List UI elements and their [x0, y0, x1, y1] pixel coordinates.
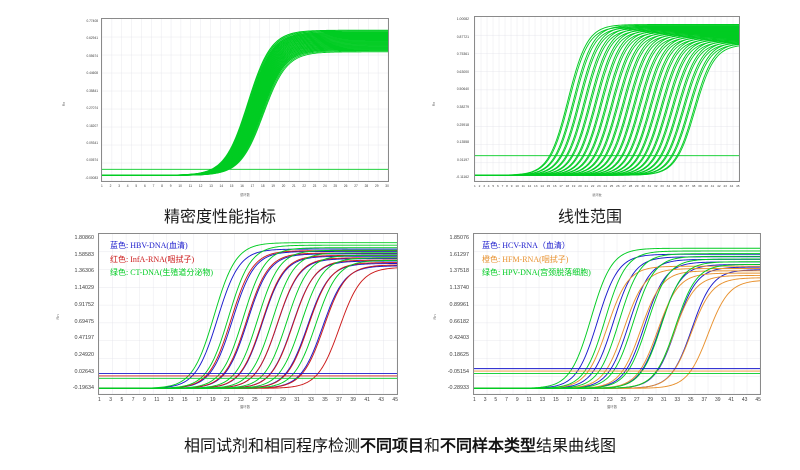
x-axis-tick-label: 40: [704, 185, 707, 188]
y-axis-tick-label: 0.75361: [457, 53, 469, 56]
figure-main-caption: 相同试剂和相同程序检测不同项目和不同样本类型结果曲线图: [0, 432, 800, 456]
caption-segment: 不同样本类型: [440, 438, 536, 455]
curve-green: [102, 45, 388, 176]
x-axis-tick-label: 35: [322, 398, 328, 403]
x-axis-tick-label: 3: [484, 398, 487, 403]
y-axis-tick-label: 0.89961: [450, 303, 470, 308]
x-axis-tick-label: 3: [483, 185, 485, 188]
x-axis-tick-label: 34: [667, 185, 670, 188]
caption-segment: 相同试剂和相同程序检测: [184, 438, 360, 455]
x-axis-tick-label: 41: [711, 185, 714, 188]
x-axis-tick-label: 13: [168, 398, 174, 403]
x-axis-tick-label: 14: [540, 185, 543, 188]
x-axis-tick-label: 10: [515, 185, 518, 188]
y-axis-tick-label: 0.25918: [457, 124, 469, 127]
y-axis-tick-label: -0.28933: [448, 386, 469, 391]
y-axis-tick-label: 1.37518: [450, 269, 470, 274]
y-axis-tick-label: 0.09341: [86, 142, 98, 145]
y-axis-tick-label: 0.87721: [457, 36, 469, 39]
x-axis-tick-label: 21: [292, 185, 296, 188]
chart-panel-multi-target-2: Rn 1.850761.612971.375181.137400.899610.…: [432, 228, 762, 406]
x-axis-tick-label: 17: [196, 398, 202, 403]
caption-segment: 结果曲线图: [536, 438, 616, 455]
x-axis-tick-label: 13: [209, 185, 213, 188]
plot-area-precision: [101, 18, 389, 182]
caption-segment: 和: [424, 438, 440, 455]
x-axis-tick-label: 21: [224, 398, 230, 403]
x-axis-tick-label: 7: [153, 185, 155, 188]
y-axis-tick-label: 1.36306: [75, 269, 95, 274]
y-axis-tick-label: 1.14029: [75, 286, 95, 291]
y-axis-tick-label: 0.91752: [75, 303, 95, 308]
x-axis-tick-label: 27: [622, 185, 625, 188]
x-axis-tick-label: 5: [492, 185, 494, 188]
plot-svg: [102, 19, 388, 181]
legend-item: 蓝色: HCV-RNA（血清）: [482, 240, 591, 252]
y-axis-tick-label: 0.55674: [86, 55, 98, 58]
x-axis-tick-label: 7: [132, 398, 135, 403]
x-axis-tick-label: 5: [121, 398, 124, 403]
x-axis-tick-label: 25: [621, 398, 627, 403]
x-axis-tick-label: 15: [230, 185, 234, 188]
x-axis-tick-label: 27: [634, 398, 640, 403]
x-axis-tick-label: 31: [648, 185, 651, 188]
x-axis-tick-label: 6: [497, 185, 499, 188]
x-axis-tick-label: 18: [261, 185, 265, 188]
x-axis-tick-label: 41: [728, 398, 734, 403]
x-axis-tick-label: 9: [511, 185, 513, 188]
x-axis-tick-label: 29: [648, 398, 654, 403]
plot-svg: [475, 17, 739, 181]
x-axis-tick-label: 18: [566, 185, 569, 188]
x-axis-tick-label: 31: [661, 398, 667, 403]
x-axis-tick-label: 8: [506, 185, 508, 188]
x-axis-tick-label: 15: [553, 398, 559, 403]
x-axis-ticks-mt2: 1357911131517192123252729313335373941434…: [473, 398, 761, 403]
y-axis-title-precision: Rn: [62, 101, 66, 105]
x-axis-tick-label: 28: [365, 185, 369, 188]
y-axis-tick-label: 0.44608: [86, 72, 98, 75]
caption-segment: 不同项目: [360, 438, 424, 455]
y-axis-ticks-mt2: 1.850761.612971.375181.137400.899610.661…: [435, 236, 469, 392]
x-axis-tick-label: 11: [522, 185, 525, 188]
y-axis-tick-label: -0.19634: [73, 386, 94, 391]
legend-item: 蓝色: HBV-DNA(血清): [110, 240, 213, 252]
x-axis-tick-label: 21: [594, 398, 600, 403]
amplification-curves: [102, 30, 388, 175]
x-axis-tick-label: 24: [323, 185, 327, 188]
x-axis-ticks-mt1: 1357911131517192123252729313335373941434…: [98, 398, 398, 403]
y-axis-tick-label: 1.00082: [457, 18, 469, 21]
x-axis-tick-label: 19: [580, 398, 586, 403]
x-axis-tick-label: 1: [101, 185, 103, 188]
x-axis-tick-label: 10: [178, 185, 182, 188]
y-axis-tick-label: 0.47197: [75, 336, 95, 341]
x-axis-tick-label: 5: [494, 398, 497, 403]
x-axis-tick-label: 17: [567, 398, 573, 403]
x-axis-tick-label: 2: [479, 185, 481, 188]
x-axis-tick-label: 38: [692, 185, 695, 188]
x-axis-tick-label: 27: [354, 185, 358, 188]
x-axis-title-mt2: 循环数: [607, 404, 617, 409]
x-axis-tick-label: 43: [723, 185, 726, 188]
plot-area-linear: [474, 16, 740, 182]
x-axis-tick-label: 13: [534, 185, 537, 188]
x-axis-title-precision: 循环数: [240, 192, 250, 197]
x-axis-tick-label: 45: [736, 185, 739, 188]
y-axis-tick-label: 0.63000: [457, 71, 469, 74]
x-axis-tick-label: 19: [271, 185, 275, 188]
chart-panel-multi-target-1: Rn 1.808601.585831.363061.140290.917520.…: [55, 228, 410, 406]
y-axis-tick-label: 1.80860: [75, 236, 95, 241]
x-axis-ticks-precision: 1234567891011121314151617181920212223242…: [101, 185, 389, 188]
y-axis-title-linear: Rn: [432, 101, 436, 105]
x-axis-tick-label: 26: [616, 185, 619, 188]
x-axis-tick-label: 39: [698, 185, 701, 188]
y-axis-ticks-linear: 1.000820.877210.753610.630000.506400.382…: [437, 18, 469, 180]
x-axis-tick-label: 11: [154, 398, 159, 403]
x-axis-tick-label: 45: [392, 398, 398, 403]
x-axis-tick-label: 9: [516, 398, 519, 403]
y-axis-tick-label: 0.02643: [75, 370, 95, 375]
y-axis-tick-label: 1.13740: [450, 286, 470, 291]
legend-item: 红色: InfA-RNA(咽拭子): [110, 254, 213, 266]
x-axis-tick-label: 4: [127, 185, 129, 188]
x-axis-tick-label: 41: [364, 398, 370, 403]
y-axis-tick-label: 0.66182: [450, 320, 470, 325]
x-axis-tick-label: 44: [730, 185, 733, 188]
x-axis-tick-label: 17: [251, 185, 255, 188]
x-axis-tick-label: 37: [336, 398, 342, 403]
legend-item: 绿色: CT-DNA(生殖道分泌物): [110, 267, 213, 279]
x-axis-tick-label: 23: [597, 185, 600, 188]
x-axis-tick-label: 33: [660, 185, 663, 188]
x-axis-tick-label: 23: [238, 398, 244, 403]
x-axis-tick-label: 25: [610, 185, 613, 188]
x-axis-tick-label: 12: [199, 185, 203, 188]
x-axis-tick-label: 12: [528, 185, 531, 188]
caption-top-left: 精密度性能指标: [130, 203, 310, 227]
x-axis-tick-label: 5: [135, 185, 137, 188]
x-axis-tick-label: 1: [98, 398, 101, 403]
x-axis-tick-label: 11: [189, 185, 192, 188]
x-axis-tick-label: 42: [717, 185, 720, 188]
y-axis-tick-label: 0.13558: [457, 141, 469, 144]
x-axis-tick-label: 20: [282, 185, 286, 188]
curve-green: [102, 44, 388, 176]
legend-mt2: 蓝色: HCV-RNA（血清）橙色: HFM-RNA(咽拭子)绿色: HPV-D…: [482, 240, 591, 281]
x-axis-tick-label: 15: [182, 398, 188, 403]
legend-item: 橙色: HFM-RNA(咽拭子): [482, 254, 591, 266]
x-axis-tick-label: 35: [688, 398, 694, 403]
y-axis-tick-label: -0.11162: [456, 176, 469, 179]
x-axis-tick-label: 23: [607, 398, 613, 403]
y-axis-tick-label: 0.35841: [86, 90, 98, 93]
x-axis-tick-label: 8: [161, 185, 163, 188]
x-axis-tick-label: 7: [502, 185, 504, 188]
x-axis-tick-label: 43: [742, 398, 748, 403]
x-axis-tick-label: 19: [572, 185, 575, 188]
y-axis-ticks-mt1: 1.808601.585831.363061.140290.917520.694…: [60, 236, 94, 392]
x-axis-tick-label: 21: [585, 185, 588, 188]
y-axis-tick-label: 0.27074: [86, 107, 98, 110]
x-axis-tick-label: 28: [629, 185, 632, 188]
y-axis-tick-label: 0.42403: [450, 336, 470, 341]
x-axis-tick-label: 2: [110, 185, 112, 188]
y-axis-tick-label: 1.61297: [450, 253, 470, 258]
x-axis-tick-label: 15: [547, 185, 550, 188]
curve-green: [102, 45, 388, 176]
x-axis-tick-label: 19: [210, 398, 216, 403]
y-axis-tick-label: -0.05154: [448, 370, 469, 375]
x-axis-tick-label: 33: [674, 398, 680, 403]
x-axis-tick-label: 35: [673, 185, 676, 188]
y-axis-tick-label: 1.85076: [450, 236, 470, 241]
x-axis-tick-label: 23: [313, 185, 317, 188]
x-axis-tick-label: 25: [334, 185, 338, 188]
x-axis-tick-label: 6: [144, 185, 146, 188]
x-axis-tick-label: 45: [755, 398, 761, 403]
x-axis-title-linear: 循环数: [592, 192, 601, 197]
x-axis-tick-label: 14: [220, 185, 224, 188]
x-axis-tick-label: 25: [252, 398, 258, 403]
x-axis-tick-label: 26: [344, 185, 348, 188]
x-axis-tick-label: 32: [654, 185, 657, 188]
y-axis-tick-label: 0.00574: [86, 159, 98, 162]
x-axis-tick-label: 20: [578, 185, 581, 188]
y-axis-tick-label: -0.00083: [85, 177, 98, 180]
x-axis-tick-label: 13: [540, 398, 546, 403]
chart-panel-precision: Rn 0.774080.629410.556740.446080.358410.…: [60, 6, 400, 201]
x-axis-tick-label: 3: [118, 185, 120, 188]
figure-root: Rn 0.774080.629410.556740.446080.358410.…: [0, 0, 800, 470]
y-axis-tick-label: 0.77408: [86, 20, 98, 23]
x-axis-tick-label: 16: [553, 185, 556, 188]
x-axis-tick-label: 11: [527, 398, 532, 403]
x-axis-tick-label: 3: [109, 398, 112, 403]
y-axis-tick-label: 0.18625: [450, 353, 470, 358]
x-axis-tick-label: 29: [635, 185, 638, 188]
y-axis-tick-label: 0.01197: [457, 159, 469, 162]
x-axis-tick-label: 39: [715, 398, 721, 403]
y-axis-tick-label: 0.24920: [75, 353, 95, 358]
x-axis-tick-label: 4: [488, 185, 490, 188]
x-axis-tick-label: 29: [375, 185, 379, 188]
y-axis-tick-label: 0.62941: [86, 37, 98, 40]
y-axis-tick-label: 0.38279: [457, 106, 469, 109]
y-axis-tick-label: 0.18207: [86, 125, 98, 128]
curve-green: [102, 44, 388, 176]
y-axis-tick-label: 1.58583: [75, 253, 95, 258]
x-axis-tick-label: 30: [385, 185, 389, 188]
x-axis-tick-label: 36: [679, 185, 682, 188]
x-axis-tick-label: 37: [686, 185, 689, 188]
legend-item: 绿色: HPV-DNA(宫颈脱落细胞): [482, 267, 591, 279]
x-axis-ticks-linear: 1234567891011121314151617181920212223242…: [474, 185, 740, 188]
x-axis-tick-label: 24: [603, 185, 606, 188]
legend-mt1: 蓝色: HBV-DNA(血清)红色: InfA-RNA(咽拭子)绿色: CT-D…: [110, 240, 213, 281]
chart-panel-linear-range: Rn 1.000820.877210.753610.630000.506400.…: [432, 6, 744, 201]
x-axis-tick-label: 43: [378, 398, 384, 403]
x-axis-tick-label: 17: [559, 185, 562, 188]
y-axis-tick-label: 0.50640: [457, 88, 469, 91]
x-axis-tick-label: 31: [294, 398, 300, 403]
x-axis-tick-label: 33: [308, 398, 314, 403]
y-axis-tick-label: 0.69475: [75, 320, 95, 325]
x-axis-tick-label: 7: [505, 398, 508, 403]
x-axis-tick-label: 1: [474, 185, 476, 188]
x-axis-tick-label: 9: [170, 185, 172, 188]
x-axis-tick-label: 9: [143, 398, 146, 403]
caption-top-right: 线性范围: [520, 203, 660, 227]
x-axis-tick-label: 39: [350, 398, 356, 403]
x-axis-tick-label: 29: [280, 398, 286, 403]
x-axis-tick-label: 37: [701, 398, 707, 403]
x-axis-tick-label: 1: [473, 398, 476, 403]
y-axis-ticks-precision: 0.774080.629410.556740.446080.358410.270…: [68, 20, 98, 180]
x-axis-tick-label: 22: [591, 185, 594, 188]
x-axis-tick-label: 16: [240, 185, 244, 188]
x-axis-title-mt1: 循环数: [240, 404, 250, 409]
x-axis-tick-label: 22: [302, 185, 306, 188]
x-axis-tick-label: 27: [266, 398, 272, 403]
x-axis-tick-label: 30: [641, 185, 644, 188]
